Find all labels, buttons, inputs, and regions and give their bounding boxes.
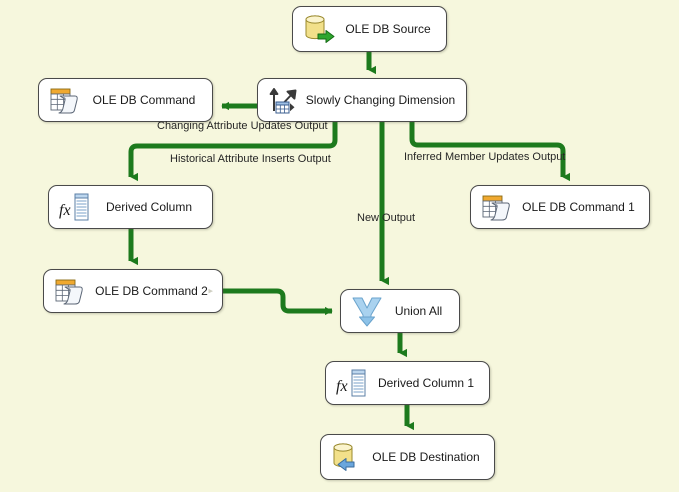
node-ole-db-command[interactable]: OLE DB Command	[38, 78, 213, 122]
node-label: OLE DB Command	[82, 93, 212, 107]
edge-label-changing-attribute-updates-output: Changing Attribute Updates Output	[157, 120, 328, 132]
node-ole-db-destination[interactable]: OLE DB Destination	[320, 434, 495, 480]
node-label: Derived Column 1	[369, 376, 489, 390]
fx-column-icon: fx	[335, 366, 369, 400]
node-label: OLE DB Command 1	[514, 200, 649, 214]
node-slowly-changing-dimension[interactable]: Slowly Changing Dimension	[257, 78, 467, 122]
node-ole-db-source[interactable]: OLE DB Source	[292, 6, 447, 52]
edge-label-new-output: New Output	[357, 212, 415, 224]
node-derived-column[interactable]: fx Derived Column	[48, 185, 213, 229]
svg-text:fx: fx	[59, 202, 71, 219]
svg-text:fx: fx	[336, 378, 348, 395]
node-label: Derived Column	[92, 200, 212, 214]
collapse-caret-icon[interactable]: ▸	[208, 286, 213, 297]
database-out-icon	[302, 12, 336, 46]
table-script-icon	[48, 83, 82, 117]
data-flow-canvas: OLE DB Source OLE DB Command	[0, 0, 679, 492]
node-label: Slowly Changing Dimension	[301, 93, 466, 107]
edge-label-inferred-member-updates-output: Inferred Member Updates Output	[404, 151, 565, 163]
node-ole-db-command-2[interactable]: OLE DB Command 2 ▸	[43, 269, 223, 313]
connector-layer	[0, 0, 679, 492]
table-script-icon	[53, 274, 87, 308]
fx-column-icon: fx	[58, 190, 92, 224]
edge-ole-db-command-2-to-union-all	[223, 291, 332, 311]
database-in-icon	[330, 440, 364, 474]
edge-scd-to-ole-db-command-1	[412, 122, 563, 177]
node-ole-db-command-1[interactable]: OLE DB Command 1	[470, 185, 650, 229]
node-label: OLE DB Command 2	[87, 284, 222, 298]
node-label: Union All	[384, 304, 459, 318]
scd-arrows-icon	[267, 83, 301, 117]
node-label: OLE DB Destination	[364, 450, 494, 464]
node-derived-column-1[interactable]: fx Derived Column 1	[325, 361, 490, 405]
edge-label-historical-attribute-inserts-output: Historical Attribute Inserts Output	[170, 153, 331, 165]
table-script-icon	[480, 190, 514, 224]
node-union-all[interactable]: Union All	[340, 289, 460, 333]
node-label: OLE DB Source	[336, 22, 446, 36]
union-all-icon	[350, 294, 384, 328]
